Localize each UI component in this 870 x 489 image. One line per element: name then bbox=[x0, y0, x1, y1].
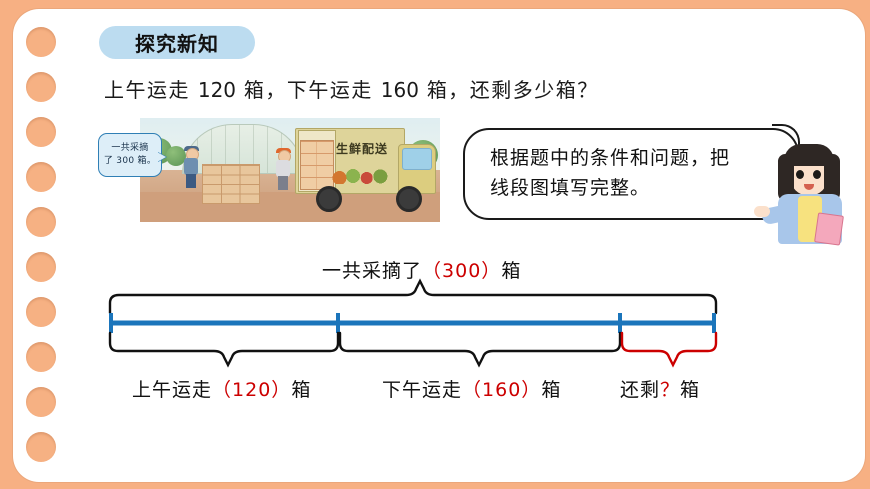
binding-hole bbox=[26, 162, 56, 192]
binding-hole bbox=[26, 72, 56, 102]
binding-hole bbox=[26, 207, 56, 237]
binding-hole bbox=[26, 387, 56, 417]
hand bbox=[754, 206, 770, 217]
morning-paren-open: （ bbox=[212, 379, 232, 401]
problem-statement: 上午运走 120 箱，下午运走 160 箱，还剩多少箱？ bbox=[104, 74, 599, 103]
afternoon-paren-open: （ bbox=[462, 379, 482, 401]
eye-right bbox=[813, 170, 821, 179]
diagram-label-afternoon: 下午运走（160）箱 bbox=[382, 375, 561, 402]
remaining-prefix: 还剩 bbox=[620, 379, 660, 401]
binding-hole bbox=[26, 252, 56, 282]
remaining-suffix: 箱 bbox=[680, 379, 700, 401]
instruction-line-2: 线段图填写完整。 bbox=[490, 173, 780, 203]
road bbox=[140, 192, 440, 222]
binding-hole bbox=[26, 297, 56, 327]
total-paren-close: ） bbox=[481, 260, 501, 282]
total-paren-open: （ bbox=[422, 260, 442, 282]
mini-bubble-tail bbox=[157, 152, 166, 162]
vegetable-graphic bbox=[332, 164, 394, 184]
morning-prefix: 上午运走 bbox=[132, 379, 212, 401]
slide-root: 探究新知 上午运走 120 箱，下午运走 160 箱，还剩多少箱？ 生鲜配送 一… bbox=[0, 0, 870, 489]
worker-figure bbox=[276, 150, 290, 190]
afternoon-prefix: 下午运走 bbox=[382, 379, 462, 401]
problem-part-3: 箱，还剩多少箱？ bbox=[427, 78, 599, 102]
section-badge-label: 探究新知 bbox=[135, 28, 219, 57]
illustration-speech-bubble: 一共采摘 了 300 箱。 bbox=[98, 133, 162, 177]
afternoon-value: 160 bbox=[482, 379, 521, 401]
morning-value: 120 bbox=[232, 379, 271, 401]
spiral-binding bbox=[26, 22, 70, 468]
mini-bubble-line-1: 一共采摘 bbox=[111, 142, 148, 155]
morning-suffix: 箱 bbox=[291, 379, 311, 401]
problem-part-2: 箱，下午运走 bbox=[244, 78, 373, 102]
character-girl bbox=[768, 140, 852, 244]
diagram-label-remaining: 还剩？箱 bbox=[620, 375, 700, 402]
diagram-label-morning: 上午运走（120）箱 bbox=[132, 375, 311, 402]
truck-window bbox=[402, 148, 432, 170]
scene-illustration: 生鲜配送 bbox=[140, 118, 440, 222]
total-value: 300 bbox=[442, 260, 481, 282]
total-prefix: 一共采摘了 bbox=[322, 260, 422, 282]
problem-number-1: 120 bbox=[198, 78, 236, 102]
tree-icon bbox=[166, 146, 186, 166]
book-icon bbox=[814, 212, 844, 245]
instruction-text: 根据题中的条件和问题，把 线段图填写完整。 bbox=[490, 143, 780, 203]
mini-bubble-line-2: 了 300 箱。 bbox=[104, 155, 156, 168]
truck-crates bbox=[300, 140, 334, 190]
afternoon-suffix: 箱 bbox=[541, 379, 561, 401]
diagram-label-total: 一共采摘了（300）箱 bbox=[322, 256, 521, 283]
problem-part-1: 上午运走 bbox=[104, 78, 190, 102]
truck-wheel bbox=[396, 186, 422, 212]
binding-hole bbox=[26, 27, 56, 57]
instruction-line-1: 根据题中的条件和问题，把 bbox=[490, 143, 780, 173]
truck-wheel bbox=[316, 186, 342, 212]
truck-label: 生鲜配送 bbox=[336, 140, 388, 157]
section-badge: 探究新知 bbox=[99, 26, 255, 59]
problem-number-2: 160 bbox=[381, 78, 419, 102]
binding-hole bbox=[26, 432, 56, 462]
remaining-value: ？ bbox=[660, 379, 680, 401]
morning-paren-close: ） bbox=[271, 379, 291, 401]
binding-hole bbox=[26, 342, 56, 372]
binding-hole bbox=[26, 117, 56, 147]
afternoon-paren-close: ） bbox=[521, 379, 541, 401]
farmer-figure bbox=[184, 148, 198, 188]
eye-left bbox=[796, 170, 804, 179]
crate-stack bbox=[202, 164, 260, 204]
total-suffix: 箱 bbox=[501, 260, 521, 282]
